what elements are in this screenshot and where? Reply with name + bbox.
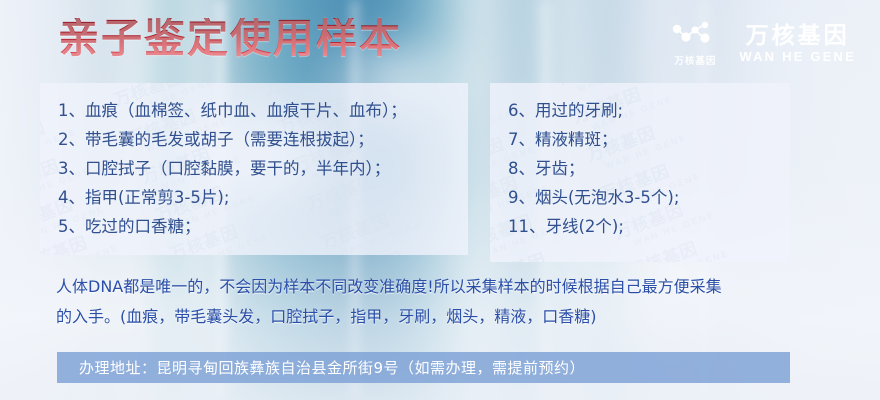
brand-name-cn: 万核基因 [746, 23, 850, 48]
sample-list-right: 6、用过的牙刷; 7、精液精斑； 8、牙齿； 9、烟头(无泡水3-5个); 11… [490, 83, 790, 241]
watermark-unit: 万核基因 WAN HE GENE [40, 246, 164, 255]
watermark-en: WAN HE GENE [40, 242, 120, 255]
watermark-en: WAN HE GENE [495, 259, 579, 262]
brand-logo: 万核基因 万核基因 WAN HE GENE [671, 20, 856, 67]
list-item: 8、牙齿； [508, 154, 790, 183]
list-item: 2、带毛囊的毛发或胡子（需要连根拔起）； [58, 125, 468, 154]
sample-list-card-left: 万核基因 WAN HE GENE 万核基因 WAN HE GENE 万核基因 W… [40, 83, 468, 255]
brand-name-en: WAN HE GENE [739, 50, 856, 64]
page-title: 亲子鉴定使用样本 [58, 18, 402, 59]
list-item: 9、烟头(无泡水3-5个); [508, 183, 790, 212]
watermark-cn: 万核基因 [331, 244, 407, 255]
address-text: 办理地址：昆明寻甸回族彝族自治县金所街9号（如需办理，需提前预约） [57, 357, 585, 378]
logo-mark-label: 万核基因 [674, 53, 716, 67]
molecule-nodes-icon [671, 20, 719, 50]
logo-mark: 万核基因 [671, 20, 719, 67]
list-item: 5、吃过的口香糖； [58, 212, 468, 241]
watermark-en: WAN HE GENE [646, 248, 730, 262]
sample-list-left: 1、血痕（血棉签、纸巾血、血痕干片、血布）； 2、带毛囊的毛发或胡子（需要连根拔… [40, 83, 468, 241]
sample-list-card-right: 万核基因 WAN HE GENE 万核基因 WAN HE GENE 万核基因 W… [490, 83, 790, 262]
list-item: 7、精液精斑； [508, 125, 790, 154]
address-banner: 办理地址：昆明寻甸回族彝族自治县金所街9号（如需办理，需提前预约） [57, 352, 790, 383]
description-paragraph: 人体DNA都是唯一的，不会因为样本不同改变准确度!所以采集样本的时候根据自己最方… [56, 272, 846, 332]
description-line-2: 的入手。(血痕，带毛囊头发，口腔拭子，指甲，牙刷，烟头，精液，口香糖) [56, 302, 846, 332]
list-item: 4、指甲(正常剪3-5片); [58, 183, 468, 212]
poster-canvas: 亲子鉴定使用样本 [0, 0, 880, 400]
list-item: 1、血痕（血棉签、纸巾血、血痕干片、血布）； [58, 96, 468, 125]
watermark-cn: 万核基因 [490, 245, 549, 262]
list-item: 6、用过的牙刷; [508, 96, 790, 125]
list-item: 3、口腔拭子（口腔黏膜，要干的，半年内）； [58, 154, 468, 183]
list-item: 11、牙线(2个); [508, 212, 790, 241]
watermark-unit: 万核基因 WAN HE GENE [638, 252, 774, 262]
logo-wordmark: 万核基因 WAN HE GENE [739, 23, 856, 64]
description-line-1: 人体DNA都是唯一的，不会因为样本不同改变准确度!所以采集样本的时候根据自己最方… [56, 272, 846, 302]
